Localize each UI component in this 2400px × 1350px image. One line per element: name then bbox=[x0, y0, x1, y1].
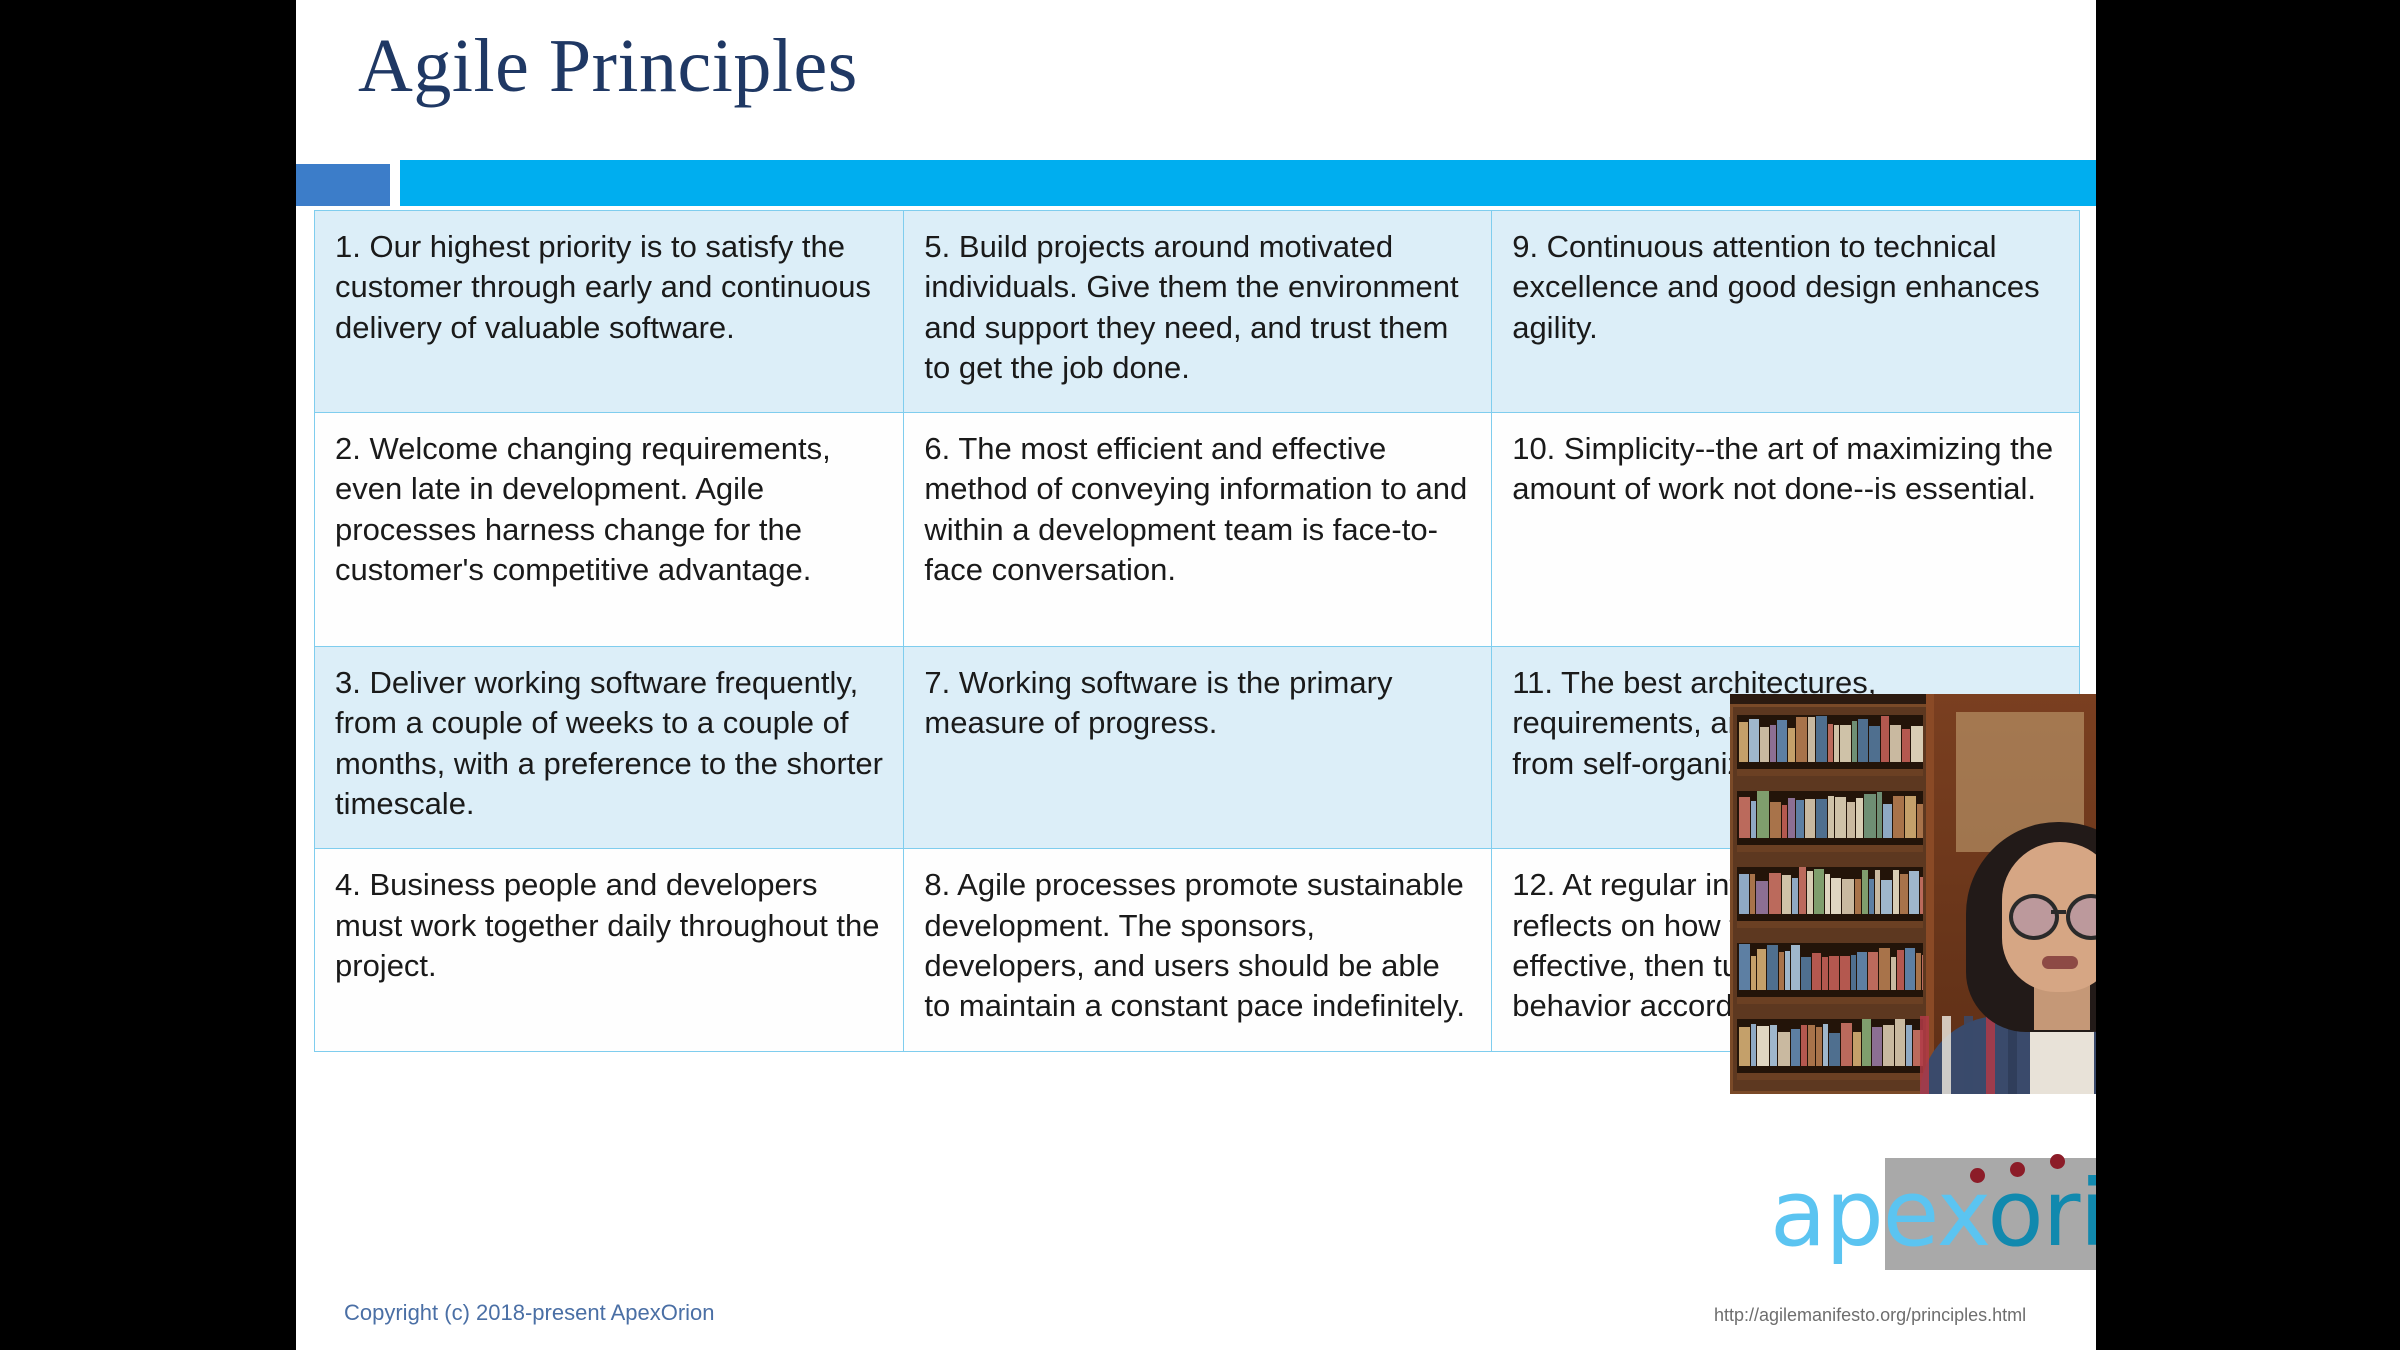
book-spine bbox=[1895, 1019, 1905, 1066]
book-spine bbox=[1751, 1024, 1756, 1066]
principle-cell-4: 4. Business people and developers must w… bbox=[315, 849, 904, 1051]
book-spine bbox=[1822, 957, 1828, 990]
book-spine bbox=[1779, 952, 1784, 990]
book-spine bbox=[1828, 796, 1834, 838]
book-spine bbox=[1816, 799, 1827, 838]
book-spine bbox=[1807, 871, 1813, 914]
book-spine bbox=[1877, 792, 1882, 838]
book-spine bbox=[1769, 873, 1781, 914]
glasses-bridge bbox=[2051, 910, 2066, 914]
hoodie-stripe bbox=[1964, 1016, 1973, 1094]
book-spine bbox=[1828, 724, 1833, 762]
book-spine bbox=[1881, 880, 1892, 914]
page-title: Agile Principles bbox=[358, 28, 858, 104]
book-spine bbox=[1757, 949, 1766, 990]
glasses-icon bbox=[2009, 894, 2059, 940]
book-spine bbox=[1900, 874, 1908, 914]
book-spine bbox=[1905, 796, 1916, 838]
book-spine bbox=[1879, 948, 1890, 990]
book-spine bbox=[1829, 956, 1839, 990]
book-spine bbox=[1792, 878, 1798, 914]
book-spine bbox=[1842, 879, 1854, 914]
book-spine bbox=[1791, 945, 1800, 990]
hoodie-stripe bbox=[1942, 1016, 1951, 1094]
book-spine bbox=[1893, 796, 1904, 838]
book-spine bbox=[1840, 725, 1851, 762]
book-spine bbox=[1872, 1027, 1882, 1066]
presenter-shirt bbox=[2030, 1022, 2094, 1094]
principle-cell-1: 1. Our highest priority is to satisfy th… bbox=[315, 211, 904, 413]
book-spine bbox=[1816, 1027, 1822, 1066]
table-row: 1. Our highest priority is to satisfy th… bbox=[315, 211, 2080, 413]
books bbox=[1737, 1019, 1923, 1066]
book-spine bbox=[1770, 1025, 1777, 1066]
book-spine bbox=[1785, 951, 1790, 990]
book-spine bbox=[1808, 1025, 1815, 1066]
book-spine bbox=[1890, 725, 1901, 762]
hoodie-stripe bbox=[1986, 1016, 1995, 1094]
book-spine bbox=[1875, 870, 1880, 914]
book-spine bbox=[1799, 867, 1806, 914]
principle-cell-6: 6. The most efficient and effective meth… bbox=[904, 413, 1492, 647]
book-spine bbox=[1782, 875, 1791, 914]
shelf-row bbox=[1737, 943, 1923, 1004]
book-spine bbox=[1757, 1026, 1769, 1066]
book-spine bbox=[1883, 804, 1892, 838]
book-spine bbox=[1739, 722, 1748, 762]
book-spine bbox=[1909, 871, 1919, 914]
principle-cell-5: 5. Build projects around motivated indiv… bbox=[904, 211, 1492, 413]
principle-cell-3: 3. Deliver working software frequently, … bbox=[315, 647, 904, 849]
book-spine bbox=[1749, 719, 1759, 762]
book-spine bbox=[1751, 956, 1756, 990]
principle-cell-9: 9. Continuous attention to technical exc… bbox=[1492, 211, 2080, 413]
book-spine bbox=[1831, 878, 1841, 914]
book-spine bbox=[1917, 804, 1923, 838]
book-spine bbox=[1788, 798, 1795, 838]
book-spine bbox=[1739, 797, 1750, 838]
principle-cell-8: 8. Agile processes promote sustainable d… bbox=[904, 849, 1492, 1051]
book-spine bbox=[1801, 1025, 1807, 1066]
principle-cell-7: 7. Working software is the primary measu… bbox=[904, 647, 1492, 849]
books bbox=[1737, 943, 1923, 990]
book-spine bbox=[1835, 797, 1846, 838]
screen: Agile Principles 1. Our highest priority… bbox=[0, 0, 2400, 1350]
letterbox-bar-right bbox=[2096, 0, 2400, 1350]
book-spine bbox=[1893, 870, 1899, 914]
book-spine bbox=[1825, 874, 1830, 914]
book-spine bbox=[1922, 955, 1923, 990]
shelf-row bbox=[1737, 1019, 1923, 1080]
letterbox-bar-left bbox=[0, 0, 296, 1350]
book-spine bbox=[1739, 944, 1750, 990]
books bbox=[1737, 867, 1923, 914]
book-spine bbox=[1911, 726, 1923, 762]
book-spine bbox=[1857, 952, 1867, 990]
table-row: 2. Welcome changing requirements, even l… bbox=[315, 413, 2080, 647]
book-spine bbox=[1847, 802, 1855, 838]
books bbox=[1737, 715, 1923, 762]
book-spine bbox=[1770, 725, 1776, 762]
bookshelf-left bbox=[1730, 704, 1930, 1094]
book-spine bbox=[1816, 716, 1827, 762]
book-spine bbox=[1841, 1023, 1852, 1066]
books bbox=[1737, 791, 1923, 838]
book-spine bbox=[1796, 717, 1807, 762]
principle-cell-10: 10. Simplicity--the art of maximizing th… bbox=[1492, 413, 2080, 647]
book-spine bbox=[1767, 945, 1778, 990]
book-spine bbox=[1883, 1025, 1894, 1066]
book-spine bbox=[1906, 1025, 1912, 1066]
book-spine bbox=[1782, 805, 1787, 838]
book-spine bbox=[1897, 950, 1904, 990]
book-spine bbox=[1869, 726, 1880, 762]
book-spine bbox=[1770, 802, 1781, 838]
book-spine bbox=[1739, 1027, 1750, 1066]
book-spine bbox=[1791, 1029, 1800, 1066]
book-spine bbox=[1852, 721, 1857, 762]
book-spine bbox=[1869, 879, 1874, 914]
shelf-row bbox=[1737, 867, 1923, 928]
book-spine bbox=[1855, 879, 1861, 914]
book-spine bbox=[1840, 956, 1850, 990]
footer-copyright: Copyright (c) 2018-present ApexOrion bbox=[344, 1300, 715, 1326]
shelf-row bbox=[1737, 791, 1923, 852]
book-spine bbox=[1757, 791, 1769, 838]
principle-cell-2: 2. Welcome changing requirements, even l… bbox=[315, 413, 904, 647]
footer-source-url: http://agilemanifesto.org/principles.htm… bbox=[1714, 1305, 2026, 1326]
book-spine bbox=[1868, 952, 1878, 990]
book-spine bbox=[1881, 716, 1889, 762]
book-spine bbox=[1812, 953, 1821, 990]
book-spine bbox=[1778, 1032, 1790, 1066]
book-spine bbox=[1801, 957, 1811, 990]
accent-bar-decoration bbox=[400, 160, 2096, 206]
book-spine bbox=[1756, 881, 1768, 914]
accent-square-decoration bbox=[296, 164, 390, 206]
book-spine bbox=[1858, 719, 1868, 762]
book-spine bbox=[1829, 1033, 1840, 1066]
book-spine bbox=[1856, 798, 1863, 838]
book-spine bbox=[1862, 1019, 1871, 1066]
book-spine bbox=[1864, 794, 1876, 838]
book-spine bbox=[1750, 874, 1755, 914]
book-spine bbox=[1902, 729, 1910, 762]
book-spine bbox=[1851, 955, 1856, 990]
book-spine bbox=[1788, 728, 1795, 762]
book-spine bbox=[1823, 1024, 1828, 1066]
book-spine bbox=[1777, 720, 1787, 762]
book-spine bbox=[1920, 877, 1923, 914]
shelf-row bbox=[1737, 715, 1923, 776]
book-spine bbox=[1796, 800, 1804, 838]
book-spine bbox=[1751, 801, 1756, 838]
book-spine bbox=[1905, 948, 1915, 990]
book-spine bbox=[1853, 1032, 1861, 1066]
presentation-slide: Agile Principles 1. Our highest priority… bbox=[296, 0, 2096, 1350]
book-spine bbox=[1805, 799, 1815, 838]
book-spine bbox=[1760, 727, 1769, 762]
book-spine bbox=[1834, 725, 1839, 762]
book-spine bbox=[1808, 717, 1815, 762]
hoodie-stripe bbox=[1920, 1016, 1929, 1094]
book-spine bbox=[1862, 870, 1868, 914]
presenter-mouth bbox=[2042, 956, 2078, 969]
book-spine bbox=[1814, 869, 1824, 914]
book-spine bbox=[1739, 874, 1749, 914]
book-spine bbox=[1916, 953, 1921, 990]
book-spine bbox=[1891, 957, 1896, 990]
